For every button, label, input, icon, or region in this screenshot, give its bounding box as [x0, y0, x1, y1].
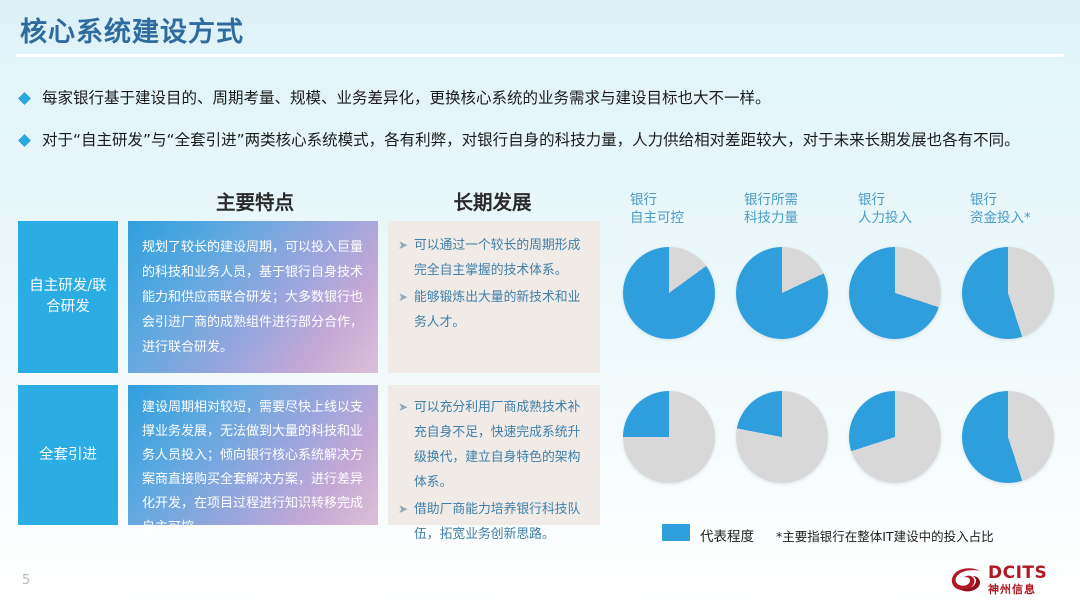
- legend-label: 代表程度: [700, 525, 754, 545]
- pie-header-line2: 资金投入*: [970, 210, 1031, 228]
- title-divider: [16, 54, 1064, 57]
- dcits-swirl-icon: [950, 567, 983, 595]
- company-logo: DCITS 神州信息: [950, 565, 1047, 596]
- pie-chart-2-2: [736, 391, 828, 483]
- slide-canvas: 核心系统建设方式 每家银行基于建设目的、周期考量、规模、业务差异化，更换核心系统…: [0, 0, 1080, 608]
- pie-chart-2-4: [962, 391, 1054, 483]
- bullet-text-1: 每家银行基于建设目的、周期考量、规模、业务差异化，更换核心系统的业务需求与建设目…: [42, 88, 771, 108]
- legend-footnote: *主要指银行在整体IT建设中的投入占比: [776, 526, 994, 545]
- pie-header-line2: 人力投入: [858, 210, 912, 228]
- list-item: ➤ 可以充分利用厂商成熟技术补充自身不足，快速完成系统升级换代，建立自身特色的架…: [398, 395, 588, 495]
- page-title: 核心系统建设方式: [20, 10, 244, 49]
- pie-column-header-4: 银行 资金投入*: [970, 192, 1031, 227]
- list-item-text: 可以通过一个较长的周期形成完全自主掌握的技术体系。: [414, 233, 588, 283]
- arrow-bullet-icon: ➤: [398, 285, 414, 310]
- pie-column-header-1: 银行 自主可控: [630, 192, 684, 227]
- pie-header-line1: 银行: [630, 192, 684, 210]
- pie-chart-2-1: [623, 391, 715, 483]
- pie-column-header-2: 银行所需 科技力量: [744, 192, 798, 227]
- list-item-text: 借助厂商能力培养银行科技队伍，拓宽业务创新思路。: [414, 497, 588, 547]
- arrow-bullet-icon: ➤: [398, 395, 414, 420]
- pie-chart-1-1: [623, 247, 715, 339]
- column-caption-development: 长期发展: [385, 186, 600, 215]
- pie-chart-1-2: [736, 247, 828, 339]
- list-item: ➤ 借助厂商能力培养银行科技队伍，拓宽业务创新思路。: [398, 497, 588, 547]
- pie-header-line1: 银行所需: [744, 192, 798, 210]
- list-item: ➤ 能够锻炼出大量的新技术和业务人才。: [398, 285, 588, 335]
- logo-text-cn: 神州信息: [988, 583, 1047, 596]
- row-feature-full-introduction: 建设周期相对较短，需要尽快上线以支撑业务发展，无法做到大量的科技和业务人员投入；…: [128, 385, 378, 525]
- diamond-bullet-icon: [18, 92, 31, 105]
- row-feature-self-development: 规划了较长的建设周期，可以投入巨量的科技和业务人员，基于银行自身技术能力和供应商…: [128, 221, 378, 373]
- arrow-bullet-icon: ➤: [398, 497, 414, 522]
- logo-text-block: DCITS 神州信息: [988, 565, 1047, 596]
- list-item: ➤ 可以通过一个较长的周期形成完全自主掌握的技术体系。: [398, 233, 588, 283]
- pie-chart-1-4: [962, 247, 1054, 339]
- page-number: 5: [22, 573, 30, 588]
- pie-header-line2: 自主可控: [630, 210, 684, 228]
- pie-header-line1: 银行: [858, 192, 912, 210]
- diamond-bullet-icon: [18, 134, 31, 147]
- row-label-self-development: 自主研发/联合研发: [18, 221, 118, 373]
- pie-header-line1: 银行: [970, 192, 1031, 210]
- list-item-text: 能够锻炼出大量的新技术和业务人才。: [414, 285, 588, 335]
- logo-text-en: DCITS: [988, 565, 1047, 582]
- bullet-item-2: 对于“自主研发”与“全套引进”两类核心系统模式，各有利弊，对银行自身的科技力量，…: [20, 130, 1020, 150]
- list-item-text: 可以充分利用厂商成熟技术补充自身不足，快速完成系统升级换代，建立自身特色的架构体…: [414, 395, 588, 495]
- pie-header-line2: 科技力量: [744, 210, 798, 228]
- pie-chart-1-3: [849, 247, 941, 339]
- pie-chart-2-3: [849, 391, 941, 483]
- bullet-text-2: 对于“自主研发”与“全套引进”两类核心系统模式，各有利弊，对银行自身的科技力量，…: [42, 130, 1020, 150]
- column-caption-features: 主要特点: [130, 186, 380, 215]
- legend-color-swatch: [662, 524, 690, 541]
- pie-column-header-3: 银行 人力投入: [858, 192, 912, 227]
- bullet-item-1: 每家银行基于建设目的、周期考量、规模、业务差异化，更换核心系统的业务需求与建设目…: [20, 88, 771, 108]
- row-development-full-introduction: ➤ 可以充分利用厂商成熟技术补充自身不足，快速完成系统升级换代，建立自身特色的架…: [388, 385, 600, 525]
- arrow-bullet-icon: ➤: [398, 233, 414, 258]
- row-development-self-development: ➤ 可以通过一个较长的周期形成完全自主掌握的技术体系。 ➤ 能够锻炼出大量的新技…: [388, 221, 600, 373]
- row-label-full-introduction: 全套引进: [18, 385, 118, 525]
